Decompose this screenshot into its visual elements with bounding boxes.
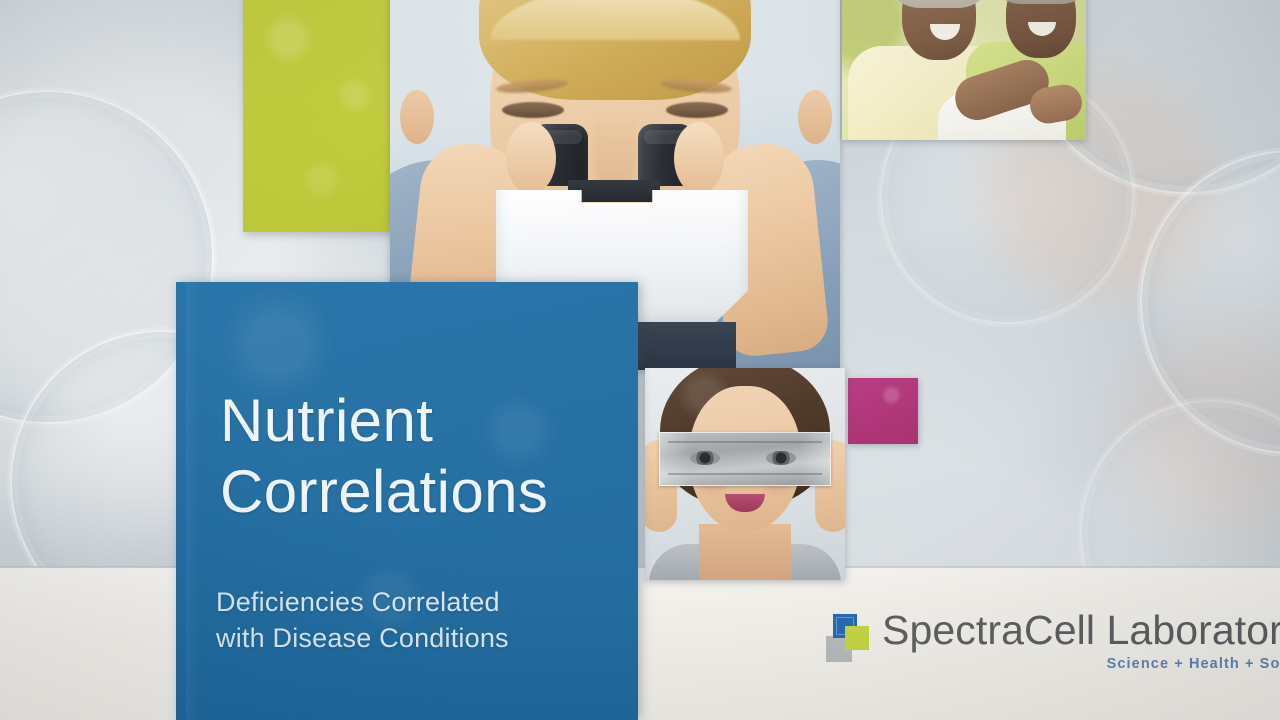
magenta-color-block	[848, 378, 918, 444]
title-panel: Nutrient Correlations Deficiencies Corre…	[176, 282, 638, 720]
neck	[699, 524, 791, 580]
eye-right	[666, 102, 728, 118]
thumb-right	[674, 122, 724, 194]
brand-logo: SpectraCell Laboratories Science + Healt…	[826, 610, 1280, 672]
subtitle-line-1: Deficiencies Correlated	[216, 587, 500, 617]
subtitle-line-2: with Disease Conditions	[216, 620, 626, 656]
hair-highlight	[490, 0, 740, 40]
brochure-cover-photo: Nutrient Correlations Deficiencies Corre…	[0, 0, 1280, 720]
logo-text-group: SpectraCell Laboratories Science + Healt…	[882, 610, 1280, 672]
page-title: Nutrient Correlations	[220, 386, 626, 528]
ear-right	[798, 90, 832, 144]
older-eye-left	[690, 451, 720, 465]
photo-strip-older-eyes	[659, 432, 831, 486]
wrinkle-line	[668, 441, 822, 443]
brand-tagline: Science + Health + Solutions	[882, 656, 1280, 672]
photo-woman-holding-older-eyes	[645, 368, 845, 580]
photo-smiling-elderly-couple	[842, 0, 1086, 140]
logo-square-green	[845, 626, 869, 650]
older-eye-right	[766, 451, 796, 465]
chartreuse-color-block	[243, 0, 394, 232]
panel-edge-highlight	[186, 282, 200, 720]
microscope-head-bridge	[568, 180, 660, 202]
spectracell-logo-icon	[826, 614, 870, 664]
title-line-1: Nutrient	[220, 387, 433, 454]
brand-name: SpectraCell Laboratories	[882, 610, 1280, 651]
eye-left	[502, 102, 564, 118]
title-line-2: Correlations	[220, 457, 626, 528]
wrinkle-line	[668, 473, 822, 475]
thumb-left	[506, 122, 556, 194]
ear-left	[400, 90, 434, 144]
page-subtitle: Deficiencies Correlated with Disease Con…	[216, 584, 626, 656]
